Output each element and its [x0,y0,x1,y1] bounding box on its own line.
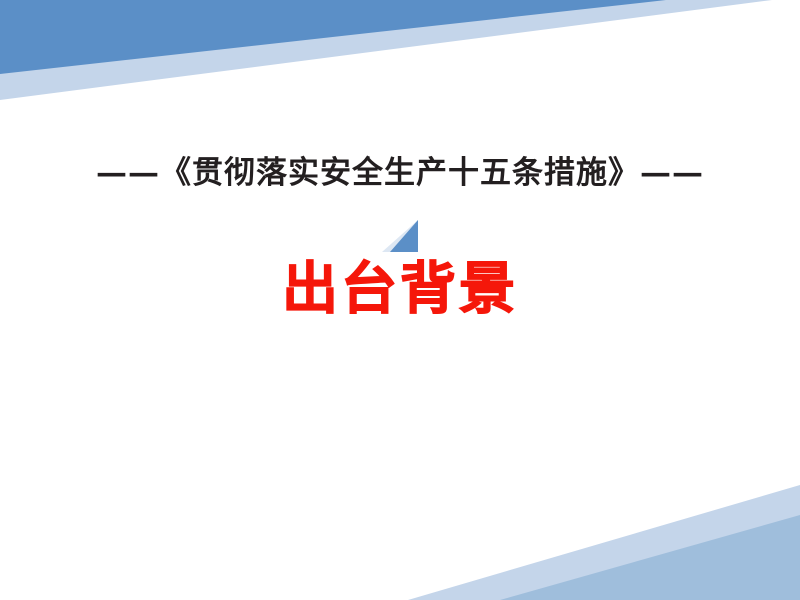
top-decoration [0,0,800,120]
main-title-line: 出台背景 [0,262,800,318]
top-dark-band-shape [0,0,666,74]
triangle-accent-wrap [0,218,800,256]
triangle-accent-icon [378,218,422,256]
page-title: 出台背景 [282,262,518,318]
slide-canvas: ——《贯彻落实安全生产十五条措施》—— 出台背景 [0,0,800,600]
bottom-light-band-shape [408,485,800,600]
page-subtitle: ——《贯彻落实安全生产十五条措施》—— [96,158,704,189]
bottom-decoration [0,470,800,600]
bottom-medium-band-shape [500,515,800,600]
top-light-band-shape [0,0,772,100]
heading-line: ——《贯彻落实安全生产十五条措施》—— [0,158,800,189]
